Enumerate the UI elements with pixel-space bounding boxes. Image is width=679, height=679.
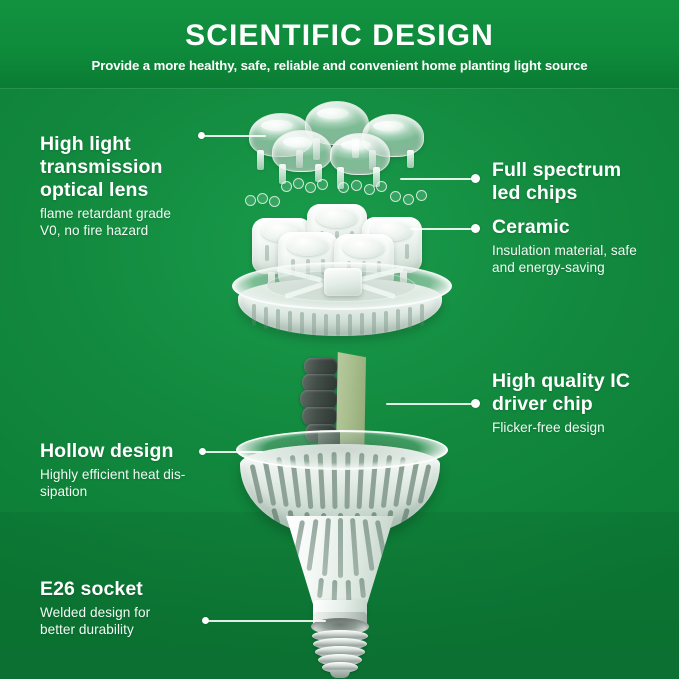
callout-ceramic: Ceramic Insulation material, safe and en… — [492, 216, 672, 276]
callout-subtitle-ceramic: Insulation material, safe and energy-sav… — [492, 242, 672, 276]
leader-dot-e26-socket — [202, 617, 209, 624]
callout-optical-lens: High light transmission optical lens fla… — [40, 133, 220, 239]
callout-hollow-design: Hollow design Highly efficient heat dis-… — [40, 440, 235, 500]
product-infographic: High light transmission optical lens fla… — [0, 0, 679, 679]
leader-line-led-chips — [400, 178, 475, 180]
leader-dot-optical-lens — [198, 132, 205, 139]
leader-dot-led-chips — [471, 174, 480, 183]
callout-subtitle-ic-driver: Flicker-free design — [492, 419, 667, 436]
leader-line-ceramic — [410, 228, 475, 230]
page-subtitle: Provide a more healthy, safe, reliable a… — [0, 58, 679, 74]
led-chip-sparkle — [390, 190, 444, 206]
callout-ic-driver: High quality IC driver chip Flicker-free… — [492, 370, 667, 436]
callout-title-ic-driver: High quality IC driver chip — [492, 370, 667, 416]
leader-dot-ic-driver — [471, 399, 480, 408]
callout-title-e26-socket: E26 socket — [40, 578, 225, 601]
heatsink-center-block — [324, 268, 362, 296]
led-chip-sparkle — [245, 193, 299, 209]
tapered-body — [286, 516, 394, 608]
leader-dot-hollow-design — [199, 448, 206, 455]
lens-leg — [407, 150, 414, 168]
leader-line-ic-driver — [386, 403, 475, 405]
page-title: SCIENTIFIC DESIGN — [0, 19, 679, 53]
leader-line-e26-socket — [208, 620, 326, 622]
header-banner: SCIENTIFIC DESIGN Provide a more healthy… — [0, 0, 679, 88]
callout-led-chips: Full spectrum led chips — [492, 159, 667, 205]
callout-subtitle-hollow-design: Highly efficient heat dis- sipation — [40, 466, 235, 500]
callout-subtitle-optical-lens: flame retardant grade V0, no fire hazard — [40, 205, 220, 239]
heatsink-ring — [232, 262, 448, 346]
led-chip-sparkle — [338, 180, 392, 196]
led-chip-sparkle — [281, 178, 335, 194]
callout-title-ceramic: Ceramic — [492, 216, 672, 239]
callout-e26-socket: E26 socket Welded design for better dura… — [40, 578, 225, 638]
lens-leg — [257, 150, 264, 170]
callout-title-optical-lens: High light transmission optical lens — [40, 133, 220, 202]
leader-dot-ceramic — [471, 224, 480, 233]
callout-title-led-chips: Full spectrum led chips — [492, 159, 667, 205]
callout-subtitle-e26-socket: Welded design for better durability — [40, 604, 225, 638]
socket-tip — [330, 670, 350, 678]
bowl-rim — [236, 430, 448, 470]
